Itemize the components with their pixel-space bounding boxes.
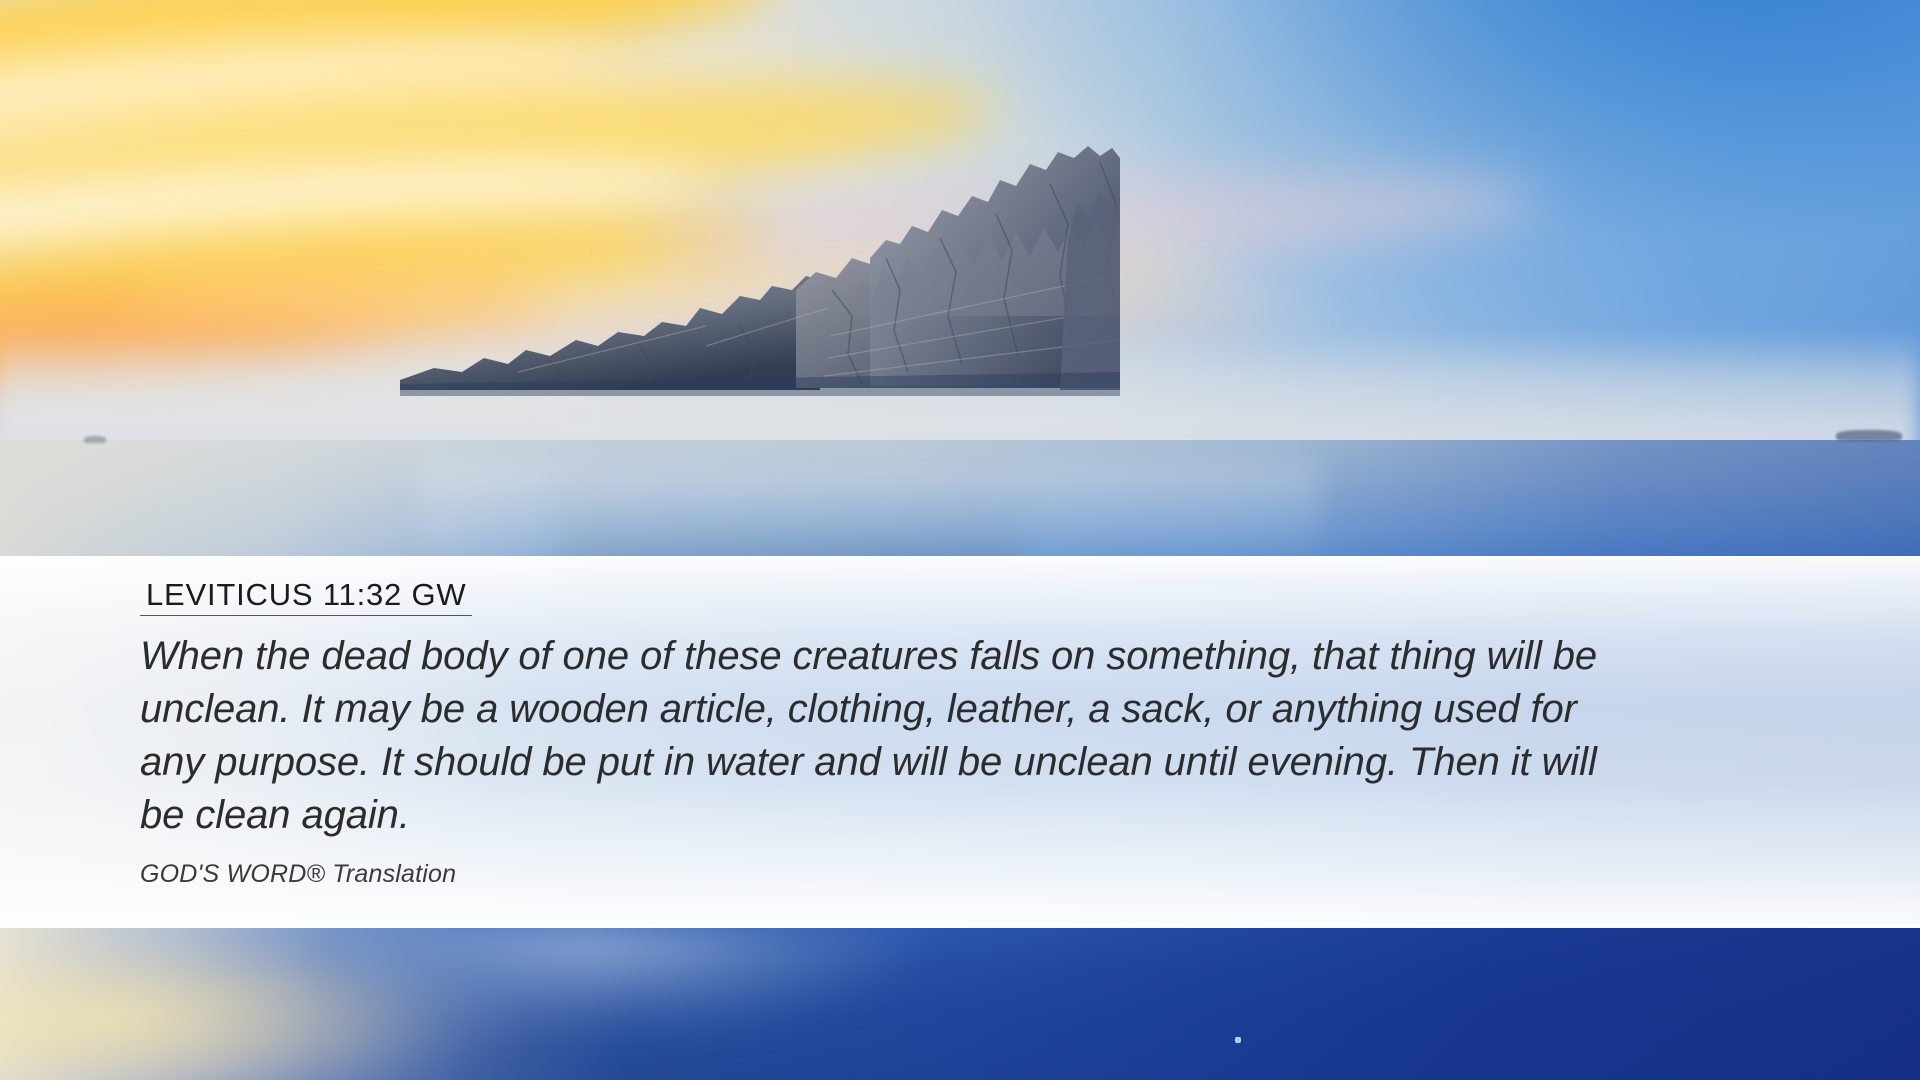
verse-card: LEVITICUS 11:32 GW When the dead body of…	[0, 556, 1920, 926]
verse-line-3: any purpose. It should be put in water a…	[140, 736, 1830, 789]
verse-reference: LEVITICUS 11:32 GW	[140, 578, 472, 616]
distant-islet	[84, 436, 106, 443]
distant-islet	[1836, 430, 1902, 441]
verse-text: When the dead body of one of these creat…	[140, 630, 1830, 842]
verse-line-1: When the dead body of one of these creat…	[140, 630, 1830, 683]
wallpaper-canvas: LEVITICUS 11:32 GW When the dead body of…	[0, 0, 1920, 1080]
translation-attribution: GOD'S WORD® Translation	[140, 860, 1920, 889]
rock-formation	[400, 140, 1120, 450]
water-speck	[1235, 1037, 1241, 1043]
verse-line-4: be clean again.	[140, 789, 1830, 842]
verse-line-2: unclean. It may be a wooden article, clo…	[140, 683, 1830, 736]
sea-pale-reflection	[340, 926, 1100, 1080]
